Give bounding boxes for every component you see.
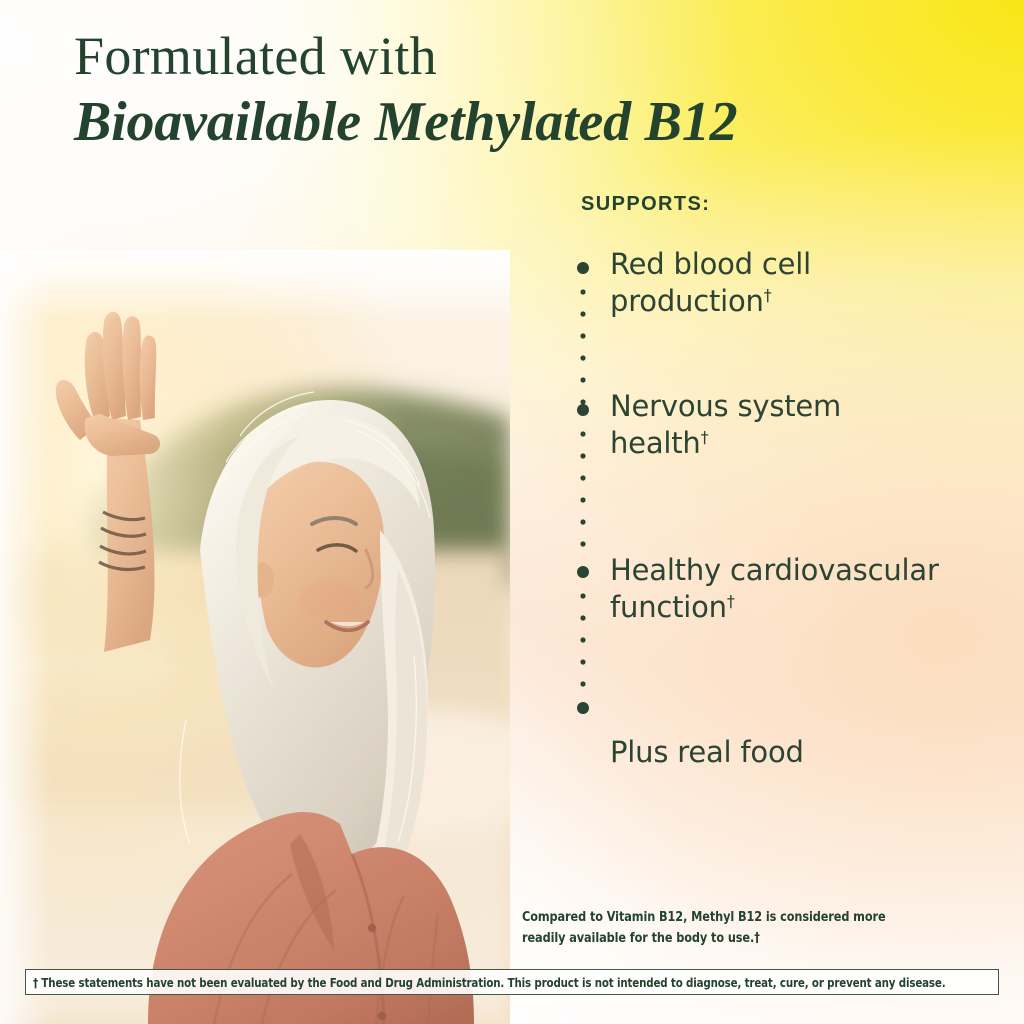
supports-heading: SUPPORTS: xyxy=(581,193,710,216)
dagger-mark: † xyxy=(727,591,735,610)
list-item: Healthy cardiovascular function† xyxy=(610,552,940,626)
fda-disclaimer-text: † These statements have not been evaluat… xyxy=(33,975,945,990)
lifestyle-photo xyxy=(0,250,510,1024)
list-item: Plus real food xyxy=(610,734,804,771)
ad-canvas: Formulated with Bioavailable Methylated … xyxy=(0,0,1024,1024)
headline-line-2: Bioavailable Methylated B12 xyxy=(74,95,954,150)
bullet-connector-dotted-line xyxy=(576,262,590,714)
photo-top-fade xyxy=(0,250,510,320)
comparison-note: Compared to Vitamin B12, Methyl B12 is c… xyxy=(522,907,931,949)
dotted-line-svg xyxy=(576,262,590,714)
headline-line-1: Formulated with xyxy=(74,30,954,83)
list-item-label: Red blood cell production xyxy=(610,247,811,318)
dagger-mark: † xyxy=(764,285,772,304)
list-item-label: Nervous system health xyxy=(610,389,841,460)
list-item-label: Healthy cardiovascular function xyxy=(610,553,939,624)
dagger-mark: † xyxy=(701,427,709,446)
list-item: Red blood cell production† xyxy=(610,246,940,320)
list-item: Nervous system health† xyxy=(610,388,940,462)
headline: Formulated with Bioavailable Methylated … xyxy=(74,30,954,151)
photo-illustration xyxy=(0,250,510,1024)
list-item-label: Plus real food xyxy=(610,735,804,769)
fda-disclaimer-box: † These statements have not been evaluat… xyxy=(25,969,999,995)
photo-left-fade xyxy=(0,250,52,1024)
